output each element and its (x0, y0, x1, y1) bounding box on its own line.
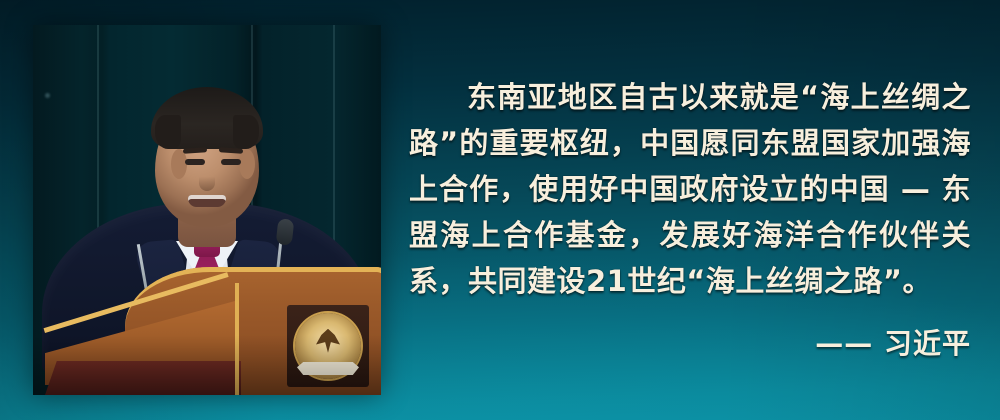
quote-attribution: —— 习近平 (409, 322, 971, 362)
eye-left (185, 159, 205, 165)
quote-body: 东南亚地区自古以来就是“海上丝绸之路”的重要枢纽，中国愿同东盟国家加强海上合作，… (409, 74, 971, 304)
quote-poster: 东南亚地区自古以来就是“海上丝绸之路”的重要枢纽，中国愿同东盟国家加强海上合作，… (0, 0, 1000, 420)
nose (199, 167, 215, 191)
eye-right (221, 159, 241, 165)
photo-bottom-shadow (33, 335, 381, 395)
quote-block: 东南亚地区自古以来就是“海上丝绸之路”的重要枢纽，中国愿同东盟国家加强海上合作，… (409, 74, 971, 362)
hair (151, 87, 263, 149)
mouth (188, 195, 226, 207)
photo-inner (33, 25, 381, 395)
speaker-photo (33, 25, 381, 395)
